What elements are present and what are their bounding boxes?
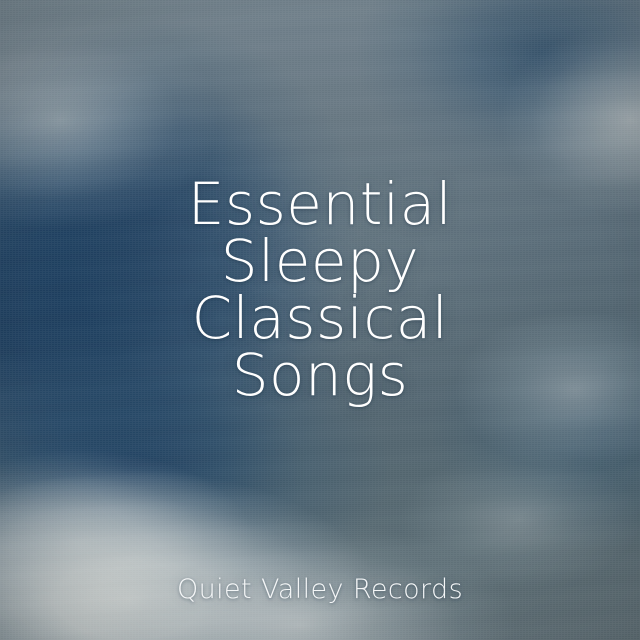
album-title-line-1: Essential bbox=[0, 176, 640, 233]
bright-cloud-top-right bbox=[0, 0, 640, 640]
vignette-overlay bbox=[0, 0, 640, 640]
bright-cloud-mid-right bbox=[0, 0, 640, 640]
navy-cloud-upper-left bbox=[0, 0, 640, 640]
film-grain-overlay bbox=[0, 0, 640, 640]
navy-cloud-upper-right bbox=[0, 0, 640, 640]
bright-cloud-bottom-center bbox=[0, 0, 640, 640]
bright-cloud-lower-right bbox=[0, 0, 640, 640]
navy-cloud-left bbox=[0, 0, 640, 640]
album-title-line-3: Classical bbox=[0, 290, 640, 347]
record-label: Quiet Valley Records bbox=[0, 574, 640, 606]
album-title-line-4: Songs bbox=[0, 347, 640, 404]
center-haze bbox=[0, 0, 640, 640]
bright-cloud-bottom-left bbox=[0, 0, 640, 640]
bright-cloud-top-left bbox=[0, 0, 640, 640]
navy-cloud-mid-right bbox=[0, 0, 640, 640]
sky-background bbox=[0, 0, 640, 640]
album-cover: Essential Sleepy Classical Songs Quiet V… bbox=[0, 0, 640, 640]
album-title: Essential Sleepy Classical Songs bbox=[0, 176, 640, 404]
album-title-line-2: Sleepy bbox=[0, 233, 640, 290]
record-label-name: Quiet Valley Records bbox=[177, 574, 463, 606]
navy-cloud-lower-left bbox=[0, 0, 640, 640]
bright-cloud-left-mid bbox=[0, 0, 640, 640]
stratus-streak-texture bbox=[0, 0, 640, 640]
